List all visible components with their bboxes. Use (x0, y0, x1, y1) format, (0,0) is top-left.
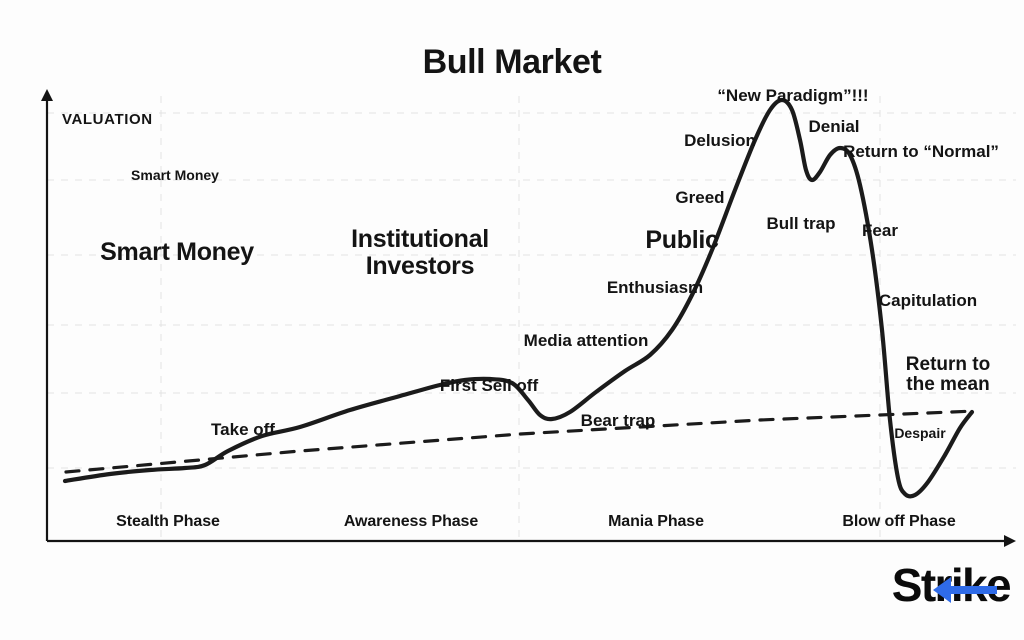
gridlines (47, 96, 1016, 540)
chart-annotation: Return to “Normal” (843, 143, 999, 161)
chart-annotation: Delusion (684, 132, 756, 150)
chart-annotation: Bear trap (581, 412, 656, 430)
market-cycle-chart (0, 0, 1024, 640)
chart-annotation: Enthusiasm (607, 279, 703, 297)
chart-annotation: Bull trap (767, 215, 836, 233)
chart-annotation: Return to the mean (906, 355, 990, 395)
arrow-left-icon (931, 575, 999, 605)
actor-label: Public (645, 227, 718, 254)
strike-logo[interactable]: Strike (820, 558, 1010, 606)
y-axis-title: VALUATION (62, 112, 153, 128)
chart-annotation: Fear (862, 222, 898, 240)
phase-label: Mania Phase (608, 514, 704, 531)
actor-label: Institutional Investors (351, 226, 489, 279)
phase-label: Blow off Phase (842, 514, 955, 531)
series-paths (65, 100, 975, 496)
chart-annotation: Media attention (524, 332, 649, 350)
phase-label: Awareness Phase (344, 514, 478, 531)
chart-canvas: Bull Market VALUATION Smart MoneyTake of… (0, 0, 1024, 640)
chart-annotation: Greed (675, 189, 724, 207)
actor-label: Smart Money (100, 239, 254, 266)
chart-annotation: “New Paradigm”!!! (717, 87, 868, 105)
trend-line-mean (66, 411, 975, 472)
chart-annotation: Smart Money (131, 168, 219, 183)
chart-annotation: First Sell off (440, 377, 538, 395)
chart-annotation: Take off (211, 421, 275, 439)
chart-annotation: Despair (894, 426, 945, 441)
phase-label: Stealth Phase (116, 514, 220, 531)
chart-annotation: Capitulation (879, 292, 977, 310)
chart-annotation: Denial (808, 118, 859, 136)
